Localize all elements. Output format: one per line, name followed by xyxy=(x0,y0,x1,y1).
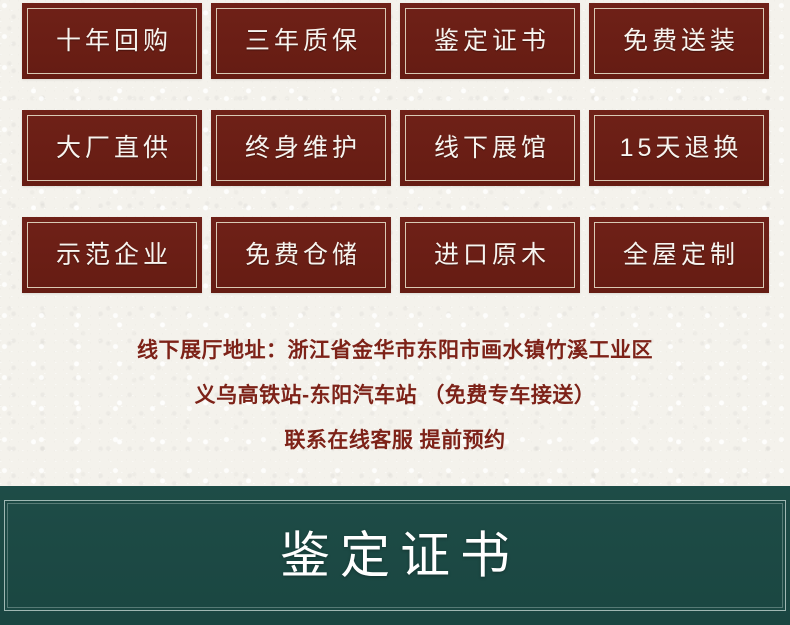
badge-label: 15天退换 xyxy=(616,136,743,161)
badge-label: 三年质保 xyxy=(241,29,361,54)
shuttle-route-line: 义乌高铁站-东阳汽车站 （免费专车接送） xyxy=(0,381,790,411)
badge-label: 免费送装 xyxy=(619,29,739,54)
badge-label: 鉴定证书 xyxy=(430,29,550,54)
certificate-banner-title: 鉴定证书 xyxy=(0,528,790,583)
badge-whole-house-customization[interactable]: 全屋定制 xyxy=(589,217,769,293)
badge-lifetime-maintenance[interactable]: 终身维护 xyxy=(211,110,391,186)
badge-appraisal-certificate[interactable]: 鉴定证书 xyxy=(400,3,580,79)
contact-reservation-line: 联系在线客服 提前预约 xyxy=(0,426,790,456)
badge-three-year-warranty[interactable]: 三年质保 xyxy=(211,3,391,79)
feature-badge-grid: 十年回购 三年质保 鉴定证书 免费送装 大厂直供 终身维护 线下展馆 15天退换… xyxy=(22,3,768,293)
badge-free-storage[interactable]: 免费仓储 xyxy=(211,217,391,293)
showroom-address-line: 线下展厅地址：浙江省金华市东阳市画水镇竹溪工业区 xyxy=(0,336,790,366)
badge-label: 大厂直供 xyxy=(52,136,172,161)
showroom-address-block: 线下展厅地址：浙江省金华市东阳市画水镇竹溪工业区 义乌高铁站-东阳汽车站 （免费… xyxy=(0,336,790,456)
badge-fifteen-day-returns[interactable]: 15天退换 xyxy=(589,110,769,186)
badge-label: 免费仓储 xyxy=(241,243,361,268)
badge-free-delivery-installation[interactable]: 免费送装 xyxy=(589,3,769,79)
certificate-banner: 鉴定证书 xyxy=(0,486,790,625)
badge-ten-year-buyback[interactable]: 十年回购 xyxy=(22,3,202,79)
badge-imported-timber[interactable]: 进口原木 xyxy=(400,217,580,293)
badge-label: 进口原木 xyxy=(430,243,550,268)
badge-label: 全屋定制 xyxy=(619,243,739,268)
badge-label: 终身维护 xyxy=(241,136,361,161)
badge-offline-showroom[interactable]: 线下展馆 xyxy=(400,110,580,186)
badge-factory-direct[interactable]: 大厂直供 xyxy=(22,110,202,186)
badge-label: 十年回购 xyxy=(52,29,172,54)
badge-label: 示范企业 xyxy=(52,243,172,268)
badge-model-enterprise[interactable]: 示范企业 xyxy=(22,217,202,293)
badge-label: 线下展馆 xyxy=(430,136,550,161)
